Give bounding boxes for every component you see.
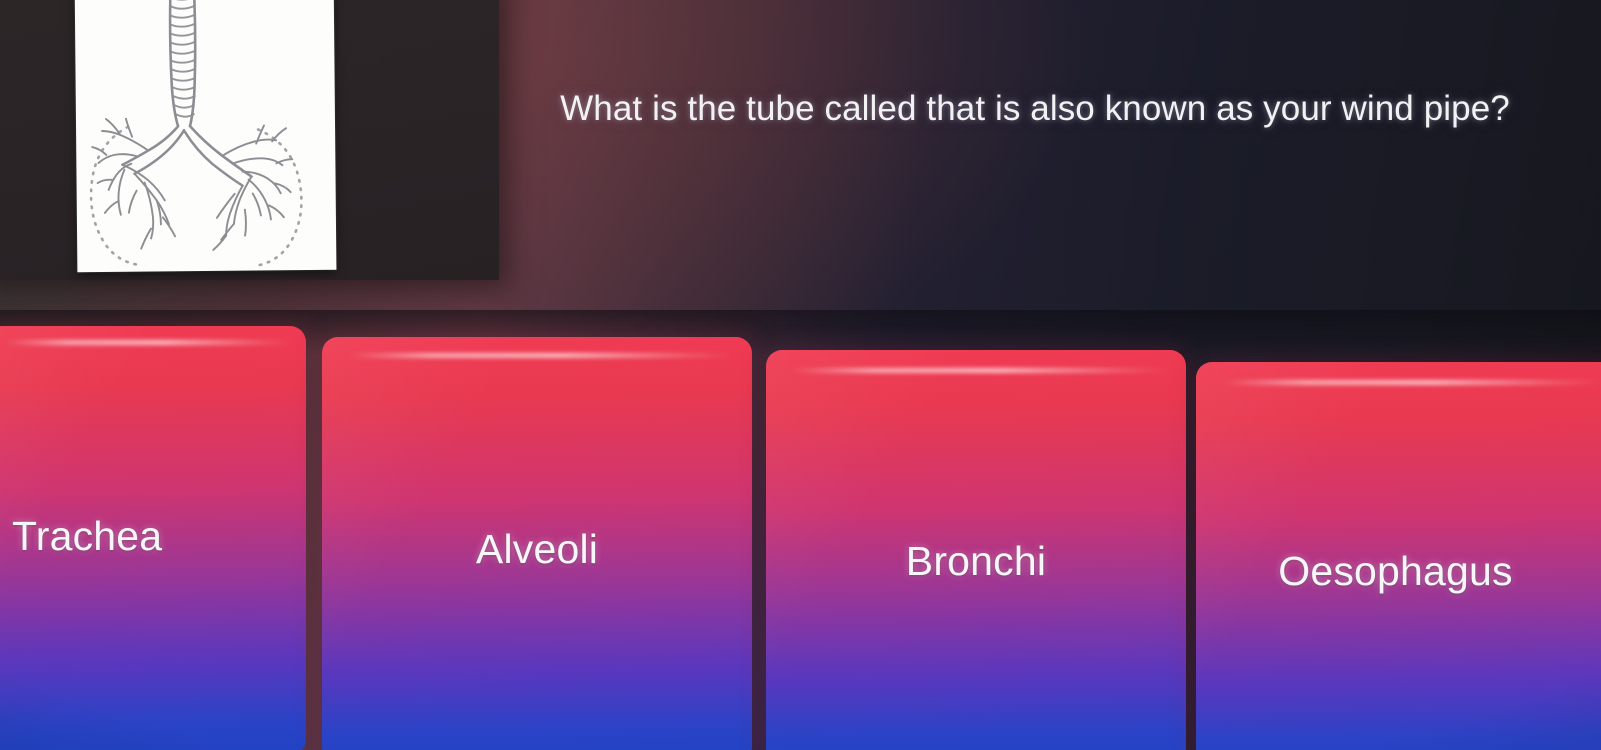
- answer-option-oesophagus[interactable]: Oesophagus: [1196, 362, 1601, 750]
- question-media-panel: [0, 0, 499, 280]
- question-area: What is the tube called that is also kno…: [0, 0, 1601, 330]
- answer-option-label: Trachea: [0, 513, 306, 560]
- answer-option-alveoli[interactable]: Alveoli: [322, 337, 752, 750]
- screen-glare-streak: [1222, 380, 1601, 385]
- quiz-screen: What is the tube called that is also kno…: [0, 0, 1601, 750]
- screen-glare-streak: [791, 368, 1169, 373]
- trachea-bronchial-tree-drawing-icon: [75, 0, 337, 272]
- screen-glare-streak: [5, 340, 293, 345]
- question-prompt-text: What is the tube called that is also kno…: [520, 82, 1550, 136]
- answer-option-bronchi[interactable]: Bronchi: [766, 350, 1186, 750]
- screen-glare-streak: [348, 353, 735, 358]
- answer-option-label: Bronchi: [766, 538, 1186, 585]
- answer-option-trachea[interactable]: Trachea: [0, 326, 306, 750]
- answer-options-grid: Trachea Alveoli Bronchi Oesophagus: [0, 310, 1601, 750]
- question-image-card: [75, 0, 337, 272]
- answer-option-label: Oesophagus: [1196, 548, 1601, 595]
- answer-option-label: Alveoli: [322, 526, 752, 573]
